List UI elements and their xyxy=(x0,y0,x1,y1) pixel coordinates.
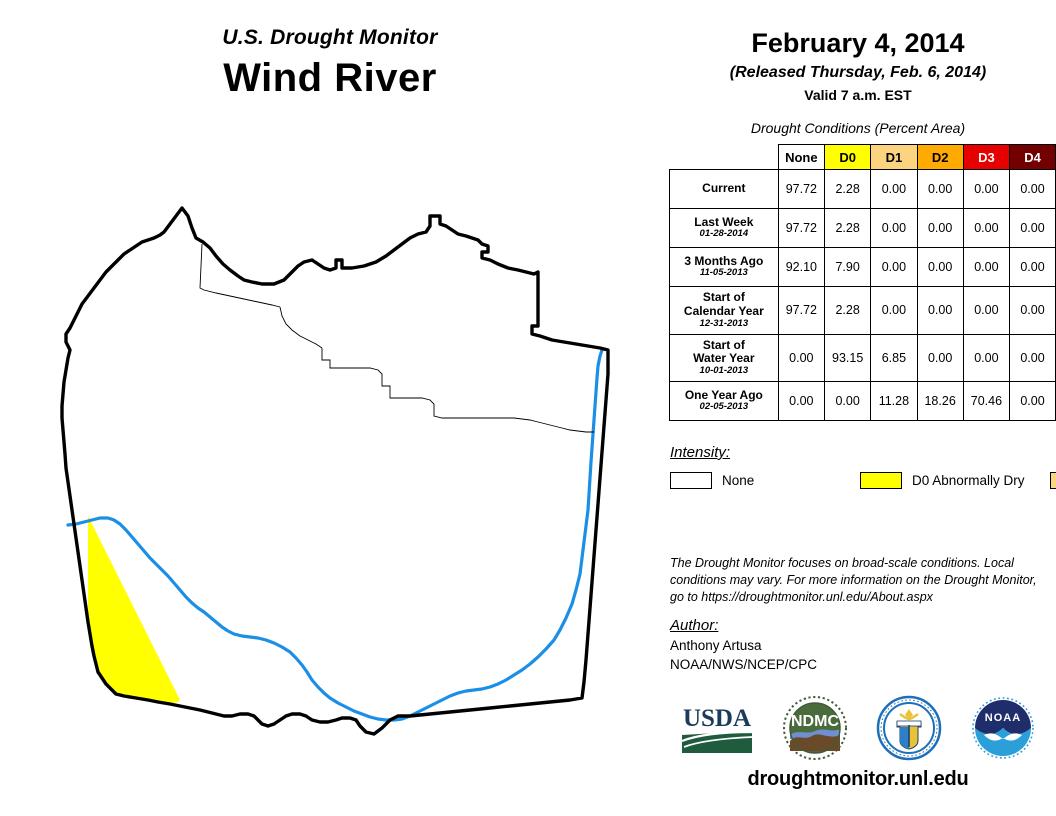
map-panel: U.S. Drought Monitor Wind River xyxy=(0,0,660,816)
table-cell-d2: 0.00 xyxy=(917,170,963,209)
row-label-text: Current xyxy=(676,182,772,196)
table-cell-d0: 2.28 xyxy=(825,170,871,209)
table-row-label: Last Week01-28-2014 xyxy=(670,209,779,248)
row-label-text: Start of xyxy=(676,339,772,353)
table-row: Last Week01-28-201497.722.280.000.000.00… xyxy=(670,209,1056,248)
svg-text:NOAA: NOAA xyxy=(985,712,1021,724)
table-cell-d2: 0.00 xyxy=(917,248,963,287)
drought-conditions-table: NoneD0D1D2D3D4 Current97.722.280.000.000… xyxy=(669,144,1056,421)
table-cell-d3: 70.46 xyxy=(963,382,1009,421)
drought-monitor-kicker: U.S. Drought Monitor xyxy=(0,26,660,50)
date-header: February 4, 2014 (Released Thursday, Feb… xyxy=(660,28,1056,103)
table-cell-none: 0.00 xyxy=(778,334,824,382)
author-affiliation: NOAA/NWS/NCEP/CPC xyxy=(670,656,817,675)
info-panel: February 4, 2014 (Released Thursday, Feb… xyxy=(660,0,1056,816)
table-col-header-d2: D2 xyxy=(917,145,963,170)
table-cell-d0: 0.00 xyxy=(825,382,871,421)
row-label-date: 01-28-2014 xyxy=(676,229,772,240)
table-cell-d4: 0.00 xyxy=(1010,287,1056,335)
legend-label: D0 Abnormally Dry xyxy=(912,473,1025,488)
table-row-label: Start ofCalendar Year12-31-2013 xyxy=(670,287,779,335)
table-cell-none: 97.72 xyxy=(778,170,824,209)
author-name: Anthony Artusa xyxy=(670,637,817,656)
intensity-heading: Intensity: xyxy=(670,444,730,461)
row-label-text: Start of xyxy=(676,291,772,305)
table-cell-d4: 0.00 xyxy=(1010,382,1056,421)
disclaimer-text: The Drought Monitor focuses on broad-sca… xyxy=(670,555,1050,606)
table-cell-d0: 2.28 xyxy=(825,209,871,248)
table-cell-d1: 0.00 xyxy=(871,170,917,209)
table-cell-none: 97.72 xyxy=(778,209,824,248)
table-col-header-d1: D1 xyxy=(871,145,917,170)
table-cell-d3: 0.00 xyxy=(963,334,1009,382)
legend-item: D1 Moderate Drought xyxy=(1050,468,1056,493)
table-cell-d3: 0.00 xyxy=(963,287,1009,335)
table-caption: Drought Conditions (Percent Area) xyxy=(660,120,1056,136)
row-label-text: One Year Ago xyxy=(676,389,772,403)
row-label-text: 3 Months Ago xyxy=(676,255,772,269)
valid-date: February 4, 2014 xyxy=(660,28,1056,59)
author-heading: Author: xyxy=(670,617,718,634)
table-cell-d2: 18.26 xyxy=(917,382,963,421)
table-cell-none: 92.10 xyxy=(778,248,824,287)
table-row-label: Current xyxy=(670,170,779,209)
table-cell-d3: 0.00 xyxy=(963,170,1009,209)
release-date: (Released Thursday, Feb. 6, 2014) xyxy=(660,64,1056,82)
legend-swatch xyxy=(860,472,902,489)
table-cell-d3: 0.00 xyxy=(963,209,1009,248)
table-row: Start ofWater Year10-01-20130.0093.156.8… xyxy=(670,334,1056,382)
table-col-header-d0: D0 xyxy=(825,145,871,170)
table-cell-d0: 2.28 xyxy=(825,287,871,335)
table-row: Start ofCalendar Year12-31-201397.722.28… xyxy=(670,287,1056,335)
table-cell-d2: 0.00 xyxy=(917,209,963,248)
table-row-label: 3 Months Ago11-05-2013 xyxy=(670,248,779,287)
drought-map[interactable] xyxy=(30,160,650,740)
map-svg[interactable] xyxy=(30,160,650,740)
table-cell-d4: 0.00 xyxy=(1010,248,1056,287)
table-cell-d1: 0.00 xyxy=(871,248,917,287)
table-cell-d2: 0.00 xyxy=(917,334,963,382)
table-cell-d4: 0.00 xyxy=(1010,334,1056,382)
legend-swatch xyxy=(670,472,712,489)
table-row-label: Start ofWater Year10-01-2013 xyxy=(670,334,779,382)
row-label-date: 11-05-2013 xyxy=(676,268,772,279)
table-col-header-none: None xyxy=(778,145,824,170)
table-col-header-d3: D3 xyxy=(963,145,1009,170)
legend-item: None xyxy=(670,468,860,493)
table-cell-d1: 0.00 xyxy=(871,209,917,248)
svg-text:NDMC: NDMC xyxy=(791,713,839,730)
commerce-seal[interactable] xyxy=(876,695,942,761)
table-body: Current97.722.280.000.000.000.00Last Wee… xyxy=(670,170,1056,421)
ndmc-logo[interactable]: NDMC xyxy=(782,695,848,761)
intensity-legend: NoneD0 Abnormally DryD1 Moderate Drought… xyxy=(670,468,1050,493)
author-block: Anthony Artusa NOAA/NWS/NCEP/CPC xyxy=(670,637,817,675)
legend-swatch xyxy=(1050,472,1056,489)
table-col-header-d4: D4 xyxy=(1010,145,1056,170)
svg-text:USDA: USDA xyxy=(683,705,751,732)
table-cell-d2: 0.00 xyxy=(917,287,963,335)
table-cell-d1: 0.00 xyxy=(871,287,917,335)
table-cell-d1: 11.28 xyxy=(871,382,917,421)
map-title-block: U.S. Drought Monitor Wind River xyxy=(0,26,660,101)
table-cell-d1: 6.85 xyxy=(871,334,917,382)
table-row: 3 Months Ago11-05-201392.107.900.000.000… xyxy=(670,248,1056,287)
legend-label: None xyxy=(722,473,754,488)
table-cell-d0: 7.90 xyxy=(825,248,871,287)
row-label-date: 02-05-2013 xyxy=(676,402,772,413)
table-cell-d3: 0.00 xyxy=(963,248,1009,287)
table-cell-d4: 0.00 xyxy=(1010,170,1056,209)
table-cell-d4: 0.00 xyxy=(1010,209,1056,248)
row-label-text: Last Week xyxy=(676,216,772,230)
valid-time: Valid 7 a.m. EST xyxy=(660,87,1056,103)
noaa-logo[interactable]: NOAA xyxy=(970,695,1036,761)
logo-row: USDA NDMC xyxy=(660,688,1056,768)
table-cell-d0: 93.15 xyxy=(825,334,871,382)
legend-item: D0 Abnormally Dry xyxy=(860,468,1050,493)
site-url[interactable]: droughtmonitor.unl.edu xyxy=(660,768,1056,791)
table-header-row: NoneD0D1D2D3D4 xyxy=(670,145,1056,170)
row-label-date: 10-01-2013 xyxy=(676,366,772,377)
table-row: One Year Ago02-05-20130.000.0011.2818.26… xyxy=(670,382,1056,421)
table-row-label: One Year Ago02-05-2013 xyxy=(670,382,779,421)
table-row: Current97.722.280.000.000.000.00 xyxy=(670,170,1056,209)
table-cell-none: 97.72 xyxy=(778,287,824,335)
row-label-text: Water Year xyxy=(676,352,772,366)
table-corner-blank xyxy=(670,145,779,170)
usda-logo[interactable]: USDA xyxy=(680,701,754,755)
row-label-date: 12-31-2013 xyxy=(676,319,772,330)
table-cell-none: 0.00 xyxy=(778,382,824,421)
row-label-text: Calendar Year xyxy=(676,305,772,319)
page-title: Wind River xyxy=(0,56,660,101)
